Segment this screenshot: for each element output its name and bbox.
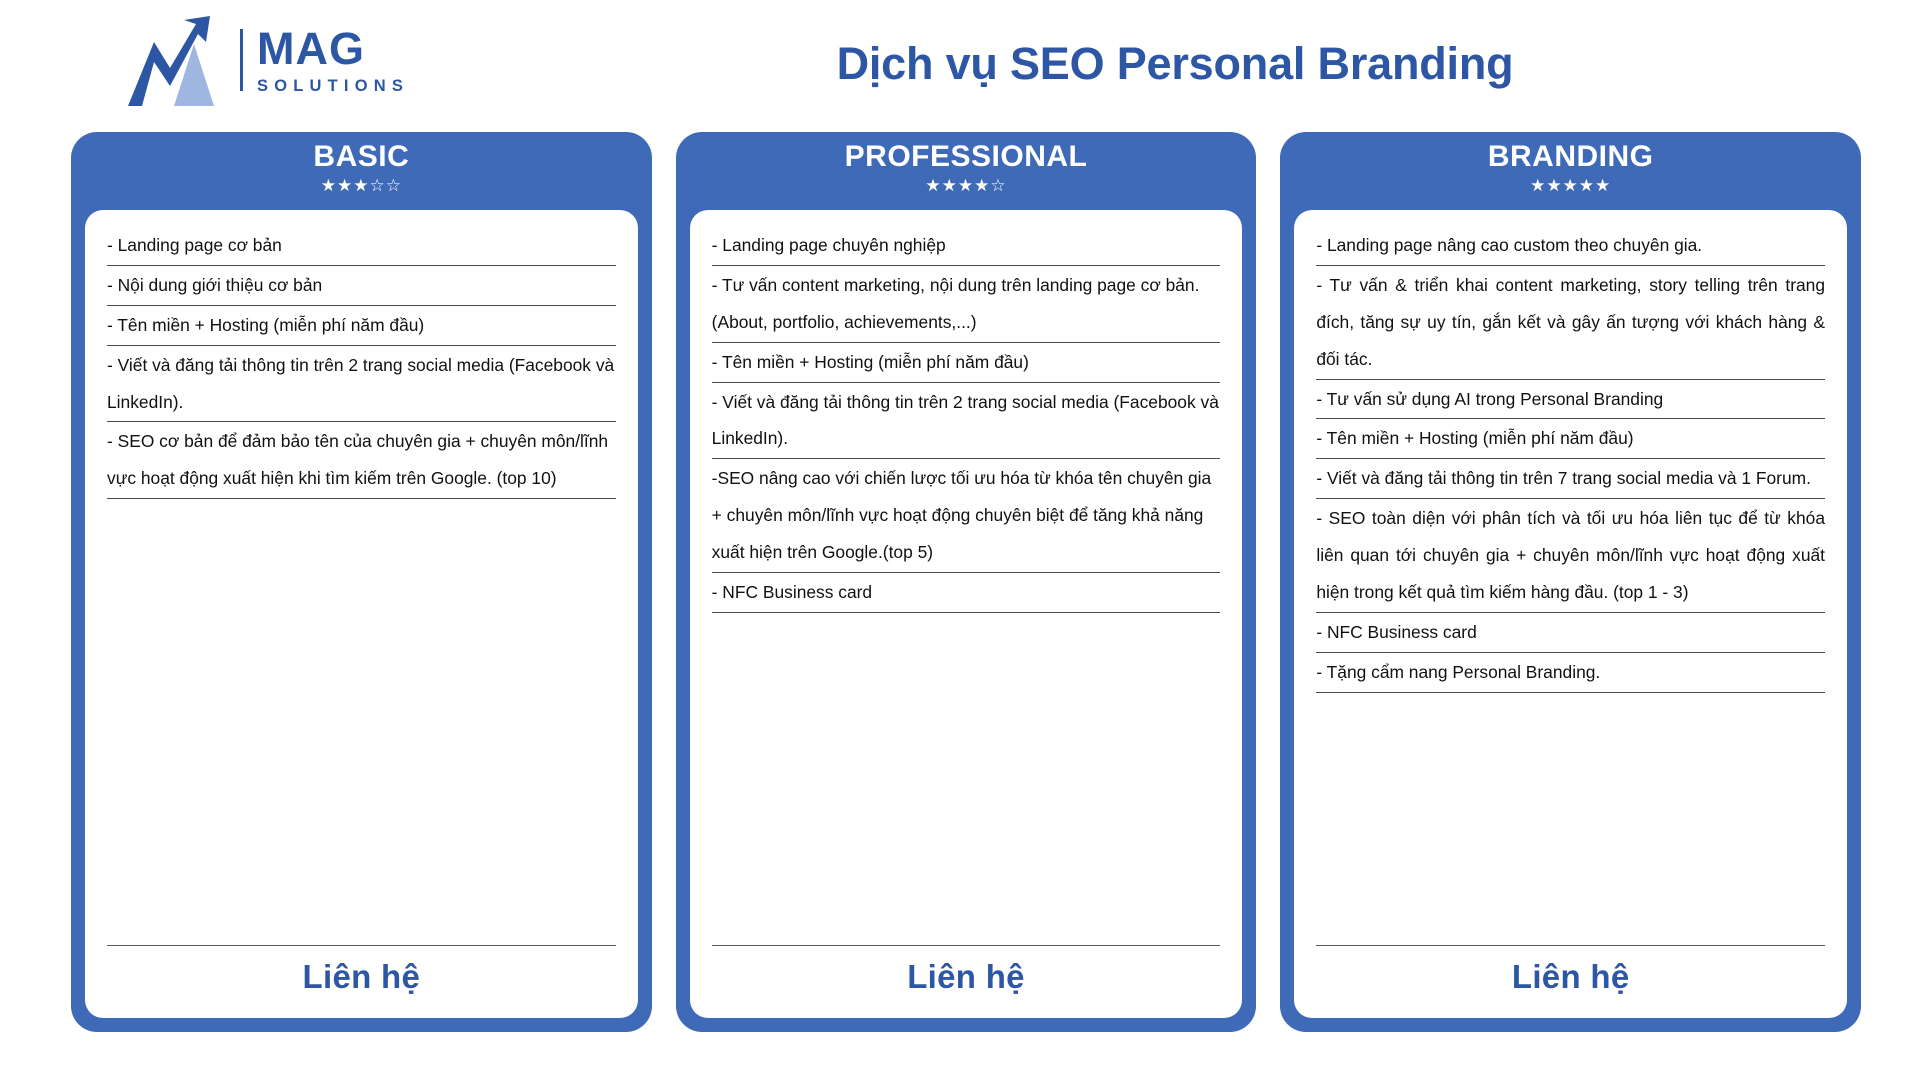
contact-button[interactable]: Liên hệ: [107, 952, 616, 1006]
feature-item: - Landing page nâng cao custom theo chuy…: [1316, 226, 1825, 266]
pricing-page: MAG SOLUTIONS Dịch vụ SEO Personal Brand…: [0, 0, 1920, 1080]
feature-item: - Tư vấn sử dụng AI trong Personal Brand…: [1316, 380, 1825, 420]
card-body: - Landing page cơ bản- Nội dung giới thi…: [85, 210, 638, 1018]
rating-stars: ★★★★★: [1530, 177, 1611, 194]
card-body: - Landing page nâng cao custom theo chuy…: [1294, 210, 1847, 1018]
feature-item: - Tên miền + Hosting (miễn phí năm đầu): [712, 343, 1221, 383]
brand-divider: [240, 29, 243, 91]
card-footer: Liên hệ: [107, 945, 616, 1018]
pricing-card-professional: PROFESSIONAL★★★★☆ - Landing page chuyên …: [676, 132, 1257, 1032]
feature-list: - Landing page chuyên nghiệp- Tư vấn con…: [712, 226, 1221, 945]
card-header: PROFESSIONAL★★★★☆: [676, 132, 1257, 210]
feature-item: - Viết và đăng tải thông tin trên 2 tran…: [712, 383, 1221, 460]
brand-logo: MAG SOLUTIONS: [118, 14, 409, 106]
plan-name: PROFESSIONAL: [845, 138, 1088, 176]
feature-item: - NFC Business card: [1316, 613, 1825, 653]
feature-item: - NFC Business card: [712, 573, 1221, 613]
contact-button[interactable]: Liên hệ: [712, 952, 1221, 1006]
page-header: MAG SOLUTIONS Dịch vụ SEO Personal Brand…: [0, 0, 1920, 128]
feature-list: - Landing page nâng cao custom theo chuy…: [1316, 226, 1825, 945]
contact-button[interactable]: Liên hệ: [1316, 952, 1825, 1006]
plan-name: BRANDING: [1488, 138, 1654, 176]
feature-item: - Landing page cơ bản: [107, 226, 616, 266]
feature-item: -SEO nâng cao với chiến lược tối ưu hóa …: [712, 459, 1221, 573]
pricing-card-basic: BASIC★★★☆☆- Landing page cơ bản- Nội dun…: [71, 132, 652, 1032]
brand-wordmark: MAG SOLUTIONS: [257, 26, 409, 95]
feature-item: - Viết và đăng tải thông tin trên 7 tran…: [1316, 459, 1825, 499]
mag-arrow-logo-icon: [118, 14, 226, 106]
card-header: BASIC★★★☆☆: [71, 132, 652, 210]
feature-item: - Tư vấn & triển khai content marketing,…: [1316, 266, 1825, 380]
feature-item: - SEO toàn diện với phân tích và tối ưu …: [1316, 499, 1825, 613]
footer-divider: [712, 945, 1221, 946]
rating-stars: ★★★★☆: [925, 177, 1006, 194]
feature-item: - Tên miền + Hosting (miễn phí năm đầu): [107, 306, 616, 346]
pricing-card-grid: BASIC★★★☆☆- Landing page cơ bản- Nội dun…: [71, 132, 1861, 1032]
feature-item: - Viết và đăng tải thông tin trên 2 tran…: [107, 346, 616, 423]
feature-list: - Landing page cơ bản- Nội dung giới thi…: [107, 226, 616, 945]
card-body: - Landing page chuyên nghiệp- Tư vấn con…: [690, 210, 1243, 1018]
plan-name: BASIC: [313, 138, 409, 176]
feature-item: - Nội dung giới thiệu cơ bản: [107, 266, 616, 306]
feature-item: - Landing page chuyên nghiệp: [712, 226, 1221, 266]
footer-divider: [107, 945, 616, 946]
card-footer: Liên hệ: [712, 945, 1221, 1018]
feature-item: - Tên miền + Hosting (miễn phí năm đầu): [1316, 419, 1825, 459]
rating-stars: ★★★☆☆: [321, 177, 402, 194]
card-header: BRANDING★★★★★: [1280, 132, 1861, 210]
footer-divider: [1316, 945, 1825, 946]
pricing-card-branding: BRANDING★★★★★ - Landing page nâng cao cu…: [1280, 132, 1861, 1032]
feature-item: - Tặng cẩm nang Personal Branding.: [1316, 653, 1825, 693]
feature-item: - SEO cơ bản để đảm bảo tên của chuyên g…: [107, 422, 616, 499]
page-title: Dịch vụ SEO Personal Branding: [430, 38, 1920, 90]
brand-name: MAG: [257, 26, 409, 71]
card-footer: Liên hệ: [1316, 945, 1825, 1018]
feature-item: - Tư vấn content marketing, nội dung trê…: [712, 266, 1221, 343]
brand-tagline: SOLUTIONS: [257, 78, 409, 95]
